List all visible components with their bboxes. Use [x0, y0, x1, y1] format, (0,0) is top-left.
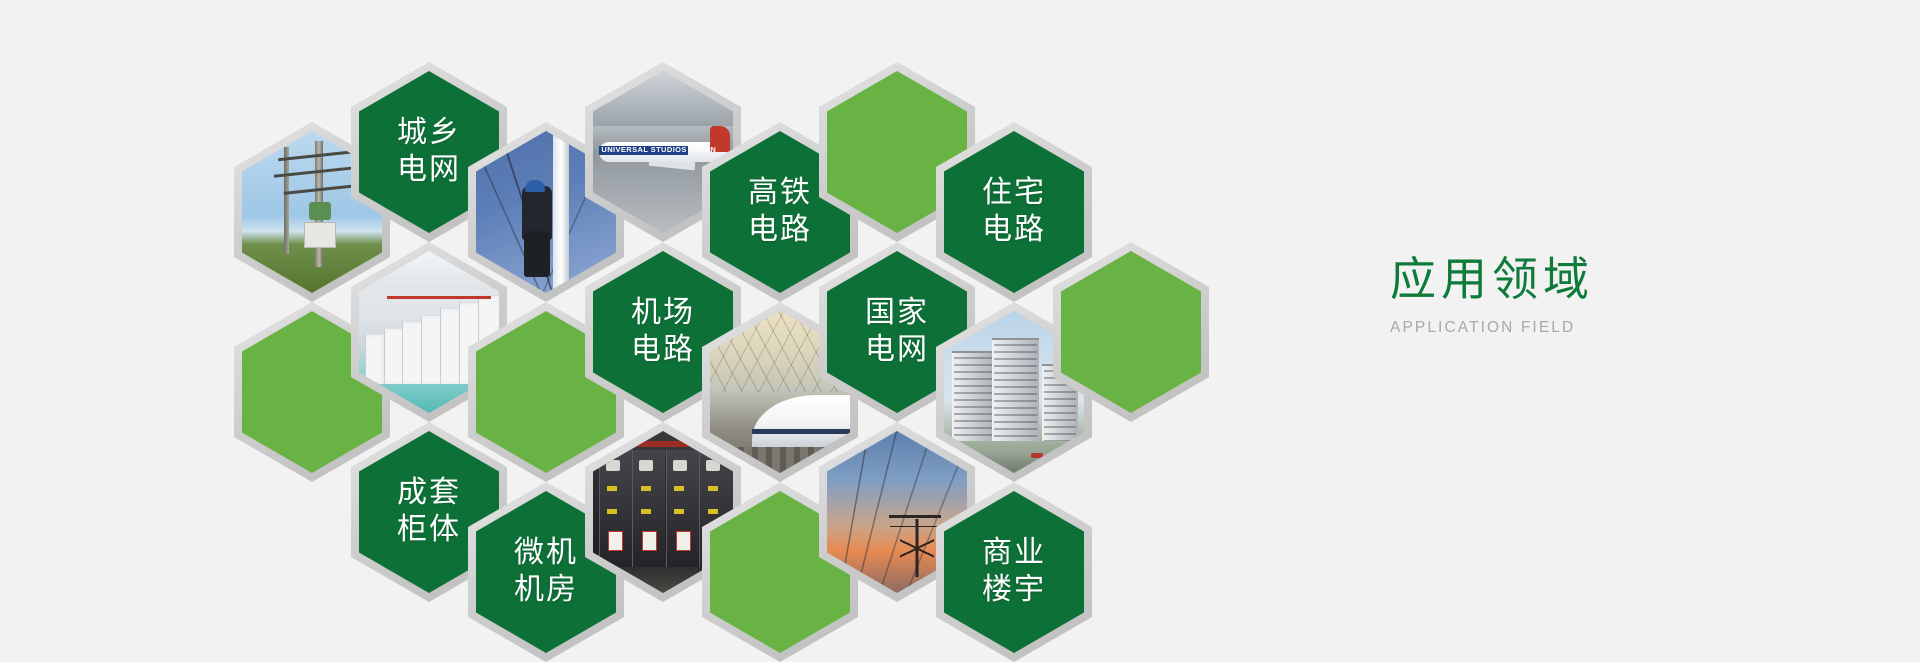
aircraft-livery-text: UNIVERSAL STUDIOS JAPAN: [601, 145, 716, 154]
hex-cell-c8r2[interactable]: [1053, 242, 1209, 422]
title-block: 应用领域 APPLICATION FIELD: [1390, 255, 1820, 337]
application-field-banner: 城乡 电网成套 柜体微机 机房UNIVERSAL STUDIOS JAPAN机场…: [0, 0, 1920, 650]
hex-label: 城乡 电网: [397, 115, 461, 188]
hex-label: 成套 柜体: [397, 475, 461, 548]
hex-label: 国家 电网: [865, 295, 929, 368]
hex-cell-c7r3[interactable]: 商业 楼宇: [936, 482, 1092, 662]
hex-label: 机场 电路: [631, 295, 695, 368]
page-title: 应用领域: [1390, 255, 1820, 305]
hex-label: 住宅 电路: [982, 175, 1046, 248]
hex-label: 商业 楼宇: [982, 535, 1046, 608]
hex-label: 微机 机房: [514, 535, 578, 608]
hex-label: 高铁 电路: [748, 175, 812, 248]
page-subtitle: APPLICATION FIELD: [1390, 319, 1820, 337]
hexagon-honeycomb: 城乡 电网成套 柜体微机 机房UNIVERSAL STUDIOS JAPAN机场…: [0, 0, 1310, 650]
